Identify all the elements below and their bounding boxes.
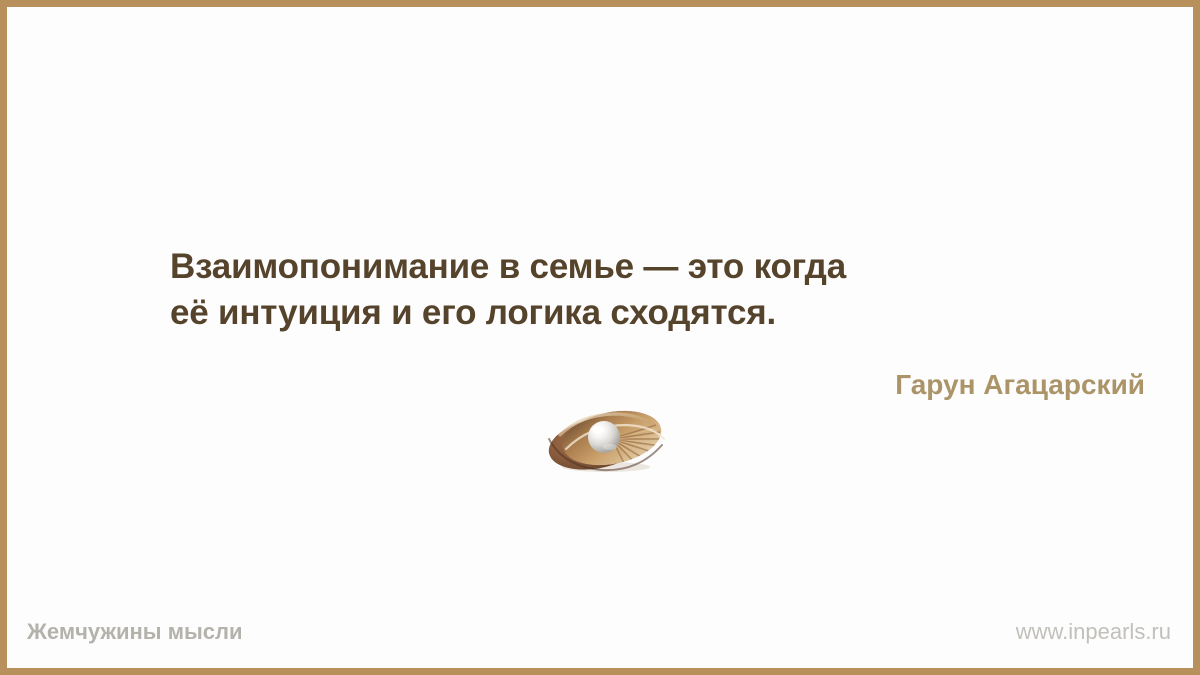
quote-author: Гарун Агацарский	[895, 369, 1145, 401]
quote-line-2: её интуиция и его логика сходятся.	[170, 290, 1070, 336]
quote-card: Взаимопонимание в семье — это когда её и…	[0, 0, 1200, 675]
quote-text: Взаимопонимание в семье — это когда её и…	[170, 244, 1070, 336]
site-url[interactable]: www.inpearls.ru	[1016, 619, 1171, 645]
site-name: Жемчужины мысли	[27, 619, 243, 645]
oyster-shell-with-pearl-icon	[540, 405, 672, 475]
quote-line-1: Взаимопонимание в семье — это когда	[170, 244, 1070, 290]
